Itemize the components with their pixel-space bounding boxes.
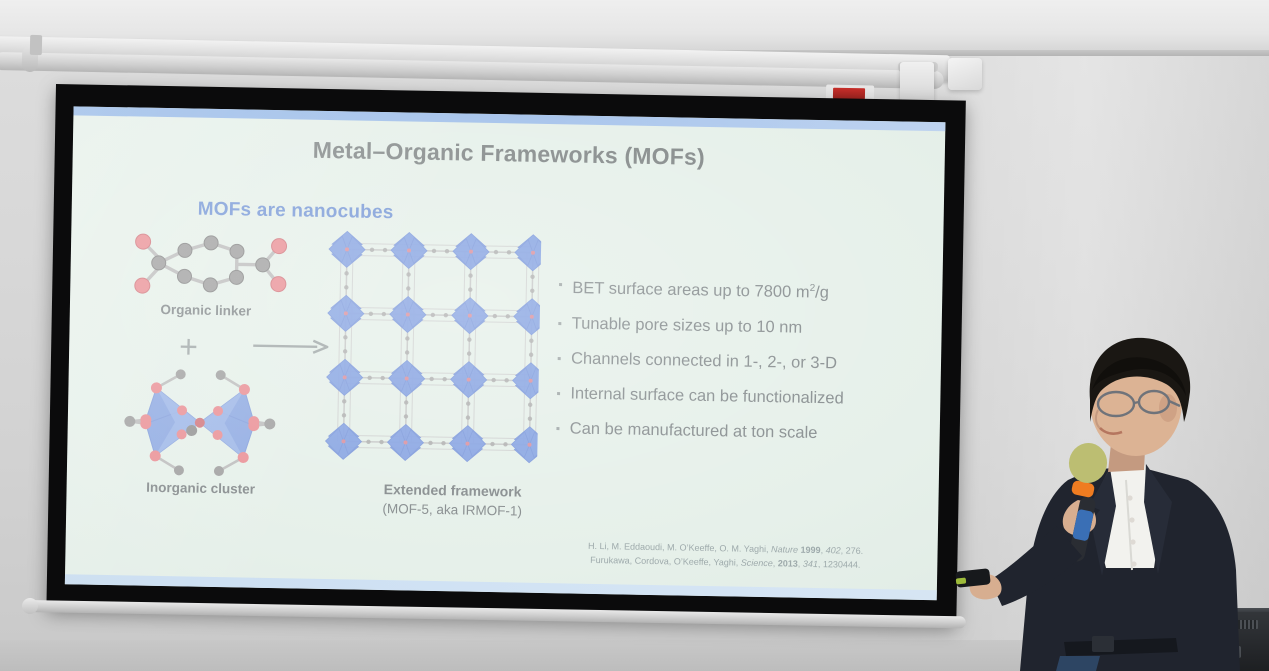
presentation-slide: Metal–Organic Frameworks (MOFs) MOFs are… [65,106,946,600]
list-item: ▪ Tunable pore sizes up to 10 nm [558,312,918,341]
bullet-list: ▪ BET surface areas up to 7800 m2/g ▪ Tu… [555,273,918,458]
bullet-marker-icon: ▪ [558,312,572,334]
wall-speaker [948,58,982,90]
projection-screen: Metal–Organic Frameworks (MOFs) MOFs are… [46,84,965,625]
bullet-text: Channels connected in 1-, 2-, or 3-D [571,347,837,374]
screen-mount-bracket [30,35,42,55]
framework-label-sub: (MOF-5, aka IRMOF-1) [382,501,522,519]
bullet-text: Can be manufactured at ton scale [570,417,818,444]
screen-weight-bar-cap [22,598,38,614]
list-item: ▪ BET surface areas up to 7800 m2/g [558,273,918,305]
extended-framework-label: Extended framework (MOF-5, aka IRMOF-1) [314,479,591,522]
bullet-marker-icon: ▪ [558,273,572,295]
list-item: ▪ Internal surface can be functionalized [556,382,916,411]
list-item: ▪ Can be manufactured at ton scale [556,417,916,446]
lecture-room-scene: Metal–Organic Frameworks (MOFs) MOFs are… [0,0,1269,671]
citation-block: H. Li, M. Eddaoudi, M. O’Keeffe, O. M. Y… [535,539,915,574]
list-item: ▪ Channels connected in 1-, 2-, or 3-D [557,347,917,376]
bullet-text: Tunable pore sizes up to 10 nm [572,312,803,338]
plus-sign: + [179,330,198,362]
slide-subtitle: MOFs are nanocubes [198,199,394,225]
bullet-marker-icon: ▪ [557,347,571,369]
framework-label-main: Extended framework [384,481,522,500]
bullet-text: BET surface areas up to 7800 m2/g [572,273,829,303]
presenter [940,330,1269,671]
bullet-text: Internal surface can be functionalized [570,382,844,409]
inorganic-cluster-diagram [119,363,281,482]
inorganic-cluster-label: Inorganic cluster [90,479,310,498]
bullet-marker-icon: ▪ [556,382,570,404]
organic-linker-label: Organic linker [106,301,306,320]
bullet-marker-icon: ▪ [556,417,570,439]
extended-framework-diagram [313,221,542,475]
organic-linker-diagram [114,223,305,304]
slide-title: Metal–Organic Frameworks (MOFs) [73,132,945,175]
